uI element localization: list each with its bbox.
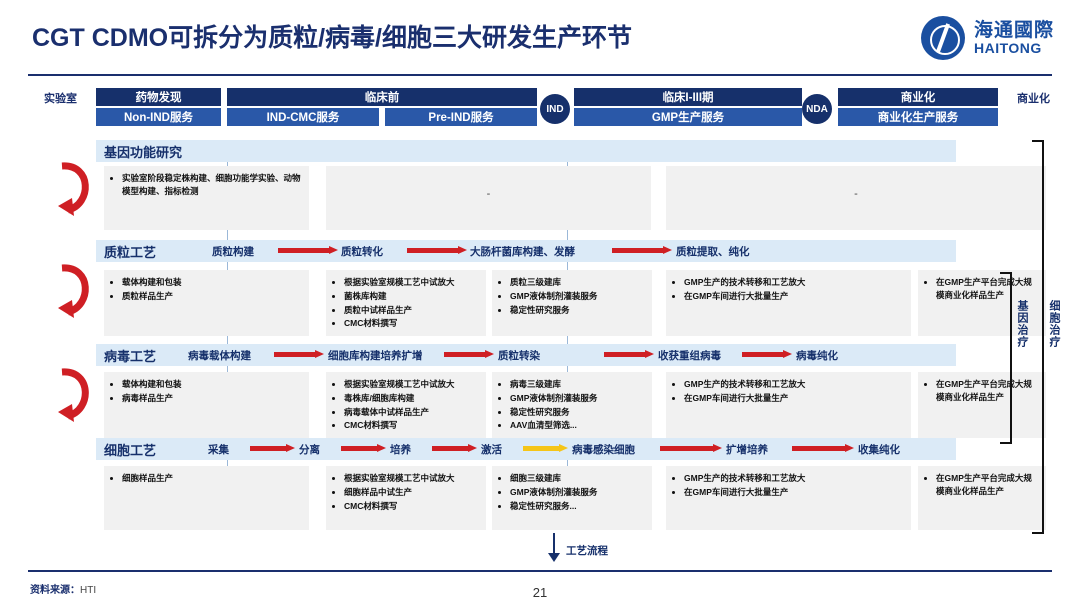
section-content-gene-function: 实验室阶段稳定株构建、细胞功能学实验、动物模型构建、指标检测 - - [96, 166, 956, 230]
flow-step-virus-3: 质粒转染 [498, 348, 540, 363]
page-number: 21 [0, 585, 1080, 600]
bullet: CMC材料撰写 [344, 500, 480, 513]
cell-cell-gmp: GMP生产的技术转移和工艺放大 在GMP车间进行大批量生产 [666, 466, 911, 530]
bullet: 病毒三级建库 [510, 378, 646, 391]
phase-preclinical: 临床前 [227, 88, 537, 106]
phase-clinical: 临床I-III期 [574, 88, 802, 106]
flow-arrow-cell-1 [250, 444, 295, 453]
logo-text-en: HAITONG [974, 41, 1054, 56]
bullet: 稳定性研究服务... [510, 500, 646, 513]
bullet: 载体构建和包装 [122, 378, 303, 391]
flow-arrow-cell-2 [341, 444, 386, 453]
flow-step-cell-5: 病毒感染细胞 [572, 442, 635, 457]
cell-virus-commercial: 在GMP生产平台完成大规模商业化样品生产 [918, 372, 1046, 438]
flow-step-virus-1: 病毒载体构建 [188, 348, 251, 363]
bullet: 细胞三级建库 [510, 472, 646, 485]
flow-arrow-plasmid-3 [612, 246, 672, 255]
lab-stage-label: 实验室 [44, 90, 77, 106]
section-title-virus: 病毒工艺 [104, 346, 156, 365]
cell-virus-ind-cmc: 根据实验室规模工艺中试放大 毒株库/细胞库构建 病毒载体中试样品生产 CMC材料… [326, 372, 486, 438]
section-content-plasmid: 载体构建和包装 质粒样品生产 根据实验室规模工艺中试放大 菌株库构建 质粒中试样… [96, 270, 956, 336]
bullet: 载体构建和包装 [122, 276, 303, 289]
cell-cell-ind-cmc: 根据实验室规模工艺中试放大 细胞样品中试生产 CMC材料撰写 [326, 466, 486, 530]
service-pre-ind: Pre-IND服务 [385, 108, 537, 126]
cell-cell-commercial: 在GMP生产平台完成大规模商业化样品生产 [918, 466, 1046, 530]
flow-step-cell-6: 扩增培养 [726, 442, 768, 457]
section-title-cell: 细胞工艺 [104, 440, 156, 459]
bullet: 细胞样品中试生产 [344, 486, 480, 499]
bullet: 质粒三级建库 [510, 276, 646, 289]
bullet: 细胞样品生产 [122, 472, 303, 485]
flow-step-virus-2: 细胞库构建培养扩增 [328, 348, 423, 363]
haitong-circle-logo-icon [921, 16, 965, 60]
phase-commercial: 商业化 [838, 88, 998, 106]
bullet: 根据实验室规模工艺中试放大 [344, 276, 480, 289]
cell-gene-lab: 实验室阶段稳定株构建、细胞功能学实验、动物模型构建、指标检测 [104, 166, 309, 230]
flow-step-virus-4: 收获重组病毒 [658, 348, 721, 363]
commercial-stage-label: 商业化 [1017, 90, 1050, 106]
bullet: 在GMP车间进行大批量生产 [684, 392, 905, 405]
logo-text-cn: 海通國際 [974, 21, 1054, 41]
cell-plasmid-gmp: GMP生产的技术转移和工艺放大 在GMP车间进行大批量生产 [666, 270, 911, 336]
flow-step-cell-2: 分离 [299, 442, 320, 457]
bullet: GMP液体制剂灌装服务 [510, 486, 646, 499]
flow-arrow-virus-4 [742, 350, 792, 359]
cell-virus-lab: 载体构建和包装 病毒样品生产 [104, 372, 309, 438]
phase-discovery: 药物发现 [96, 88, 221, 106]
slide: CGT CDMO可拆分为质粒/病毒/细胞三大研发生产环节 海通國際 HAITON… [0, 0, 1080, 608]
cell-cell-pre-ind: 细胞三级建库 GMP液体制剂灌装服务 稳定性研究服务... [492, 466, 652, 530]
placeholder-dash: - [326, 166, 651, 200]
cell-virus-pre-ind: 病毒三级建库 GMP液体制剂灌装服务 稳定性研究服务 AAV血清型筛选... [492, 372, 652, 438]
bullet: 稳定性研究服务 [510, 406, 646, 419]
flow-arrow-cell-3 [432, 444, 477, 453]
service-ind-cmc: IND-CMC服务 [227, 108, 379, 126]
loop-arrow-gene [52, 160, 96, 222]
gate-ind: IND [540, 94, 570, 124]
cell-plasmid-pre-ind: 质粒三级建库 GMP液体制剂灌装服务 稳定性研究服务 [492, 270, 652, 336]
cell-plasmid-lab: 载体构建和包装 质粒样品生产 [104, 270, 309, 336]
cell-plasmid-ind-cmc: 根据实验室规模工艺中试放大 菌株库构建 质粒中试样品生产 CMC材料撰写 [326, 270, 486, 336]
cell-virus-gmp: GMP生产的技术转移和工艺放大 在GMP车间进行大批量生产 [666, 372, 911, 438]
bullet: 稳定性研究服务 [510, 304, 646, 317]
flow-step-plasmid-3: 大肠杆菌库构建、发酵 [470, 244, 575, 259]
bullet: 病毒载体中试样品生产 [344, 406, 480, 419]
flow-step-plasmid-1: 质粒构建 [212, 244, 254, 259]
bullet: GMP生产的技术转移和工艺放大 [684, 472, 905, 485]
bullet: GMP生产的技术转移和工艺放大 [684, 276, 905, 289]
bullet: 质粒样品生产 [122, 290, 303, 303]
header-divider [28, 74, 1052, 76]
footer-divider [28, 570, 1052, 572]
bullet: 菌株库构建 [344, 290, 480, 303]
loop-arrow-plasmid [52, 262, 96, 324]
section-content-cell: 细胞样品生产 根据实验室规模工艺中试放大 细胞样品中试生产 CMC材料撰写 细胞… [96, 466, 956, 530]
brace-cell-therapy [1032, 140, 1044, 534]
bullet: GMP液体制剂灌装服务 [510, 392, 646, 405]
service-gmp: GMP生产服务 [574, 108, 802, 126]
flow-arrow-virus-3 [604, 350, 654, 359]
flow-step-cell-4: 激活 [481, 442, 502, 457]
section-content-virus: 载体构建和包装 病毒样品生产 根据实验室规模工艺中试放大 毒株库/细胞库构建 病… [96, 372, 956, 438]
bullet: 病毒样品生产 [122, 392, 303, 405]
bullet: AAV血清型筛选... [510, 419, 646, 432]
loop-arrow-virus [52, 366, 96, 428]
bullet: GMP生产的技术转移和工艺放大 [684, 378, 905, 391]
bullet: 在GMP生产平台完成大规模商业化样品生产 [936, 276, 1040, 302]
bullet: 在GMP生产平台完成大规模商业化样品生产 [936, 472, 1040, 498]
flow-arrow-plasmid-1 [278, 246, 338, 255]
bullet: 实验室阶段稳定株构建、细胞功能学实验、动物模型构建、指标检测 [122, 172, 303, 198]
brace-gene-therapy [1000, 272, 1012, 444]
section-title-gene-function: 基因功能研究 [104, 142, 182, 161]
flow-step-cell-3: 培养 [390, 442, 411, 457]
flow-arrow-cell-6 [792, 444, 854, 453]
flow-step-virus-5: 病毒纯化 [796, 348, 838, 363]
placeholder-dash: - [666, 166, 1046, 200]
bullet: 毒株库/细胞库构建 [344, 392, 480, 405]
flow-step-cell-7: 收集纯化 [858, 442, 900, 457]
brace-label-gene-therapy: 基因治疗 [1014, 300, 1030, 348]
service-commercial: 商业化生产服务 [838, 108, 998, 126]
brace-label-cell-therapy: 细胞治疗 [1046, 300, 1062, 348]
bullet: 在GMP车间进行大批量生产 [684, 290, 905, 303]
bullet: 在GMP车间进行大批量生产 [684, 486, 905, 499]
flow-arrow-plasmid-2 [407, 246, 467, 255]
cell-gene-preclinical: - [326, 166, 651, 230]
bullet: 在GMP生产平台完成大规模商业化样品生产 [936, 378, 1040, 404]
cell-gene-clinical: - [666, 166, 1046, 230]
flow-arrow-cell-5 [660, 444, 722, 453]
bullet: 质粒中试样品生产 [344, 304, 480, 317]
section-band-gene-function [96, 140, 956, 162]
process-flow-arrow-icon [553, 533, 555, 555]
flow-step-plasmid-4: 质粒提取、纯化 [676, 244, 750, 259]
bullet: CMC材料撰写 [344, 317, 480, 330]
service-non-ind: Non-IND服务 [96, 108, 221, 126]
bullet: 根据实验室规模工艺中试放大 [344, 378, 480, 391]
flow-step-plasmid-2: 质粒转化 [341, 244, 383, 259]
page-title: CGT CDMO可拆分为质粒/病毒/细胞三大研发生产环节 [32, 18, 632, 54]
flow-arrow-virus-2 [444, 350, 494, 359]
bullet: CMC材料撰写 [344, 419, 480, 432]
gate-nda: NDA [802, 94, 832, 124]
flow-arrow-virus-1 [274, 350, 324, 359]
section-title-plasmid: 质粒工艺 [104, 242, 156, 261]
flow-arrow-cell-4 [523, 444, 568, 453]
cell-cell-lab: 细胞样品生产 [104, 466, 309, 530]
process-flow-label: 工艺流程 [566, 543, 608, 558]
flow-step-cell-1: 采集 [208, 442, 229, 457]
bullet: GMP液体制剂灌装服务 [510, 290, 646, 303]
brand-logo: 海通國際 HAITONG [921, 16, 1054, 60]
bullet: 根据实验室规模工艺中试放大 [344, 472, 480, 485]
